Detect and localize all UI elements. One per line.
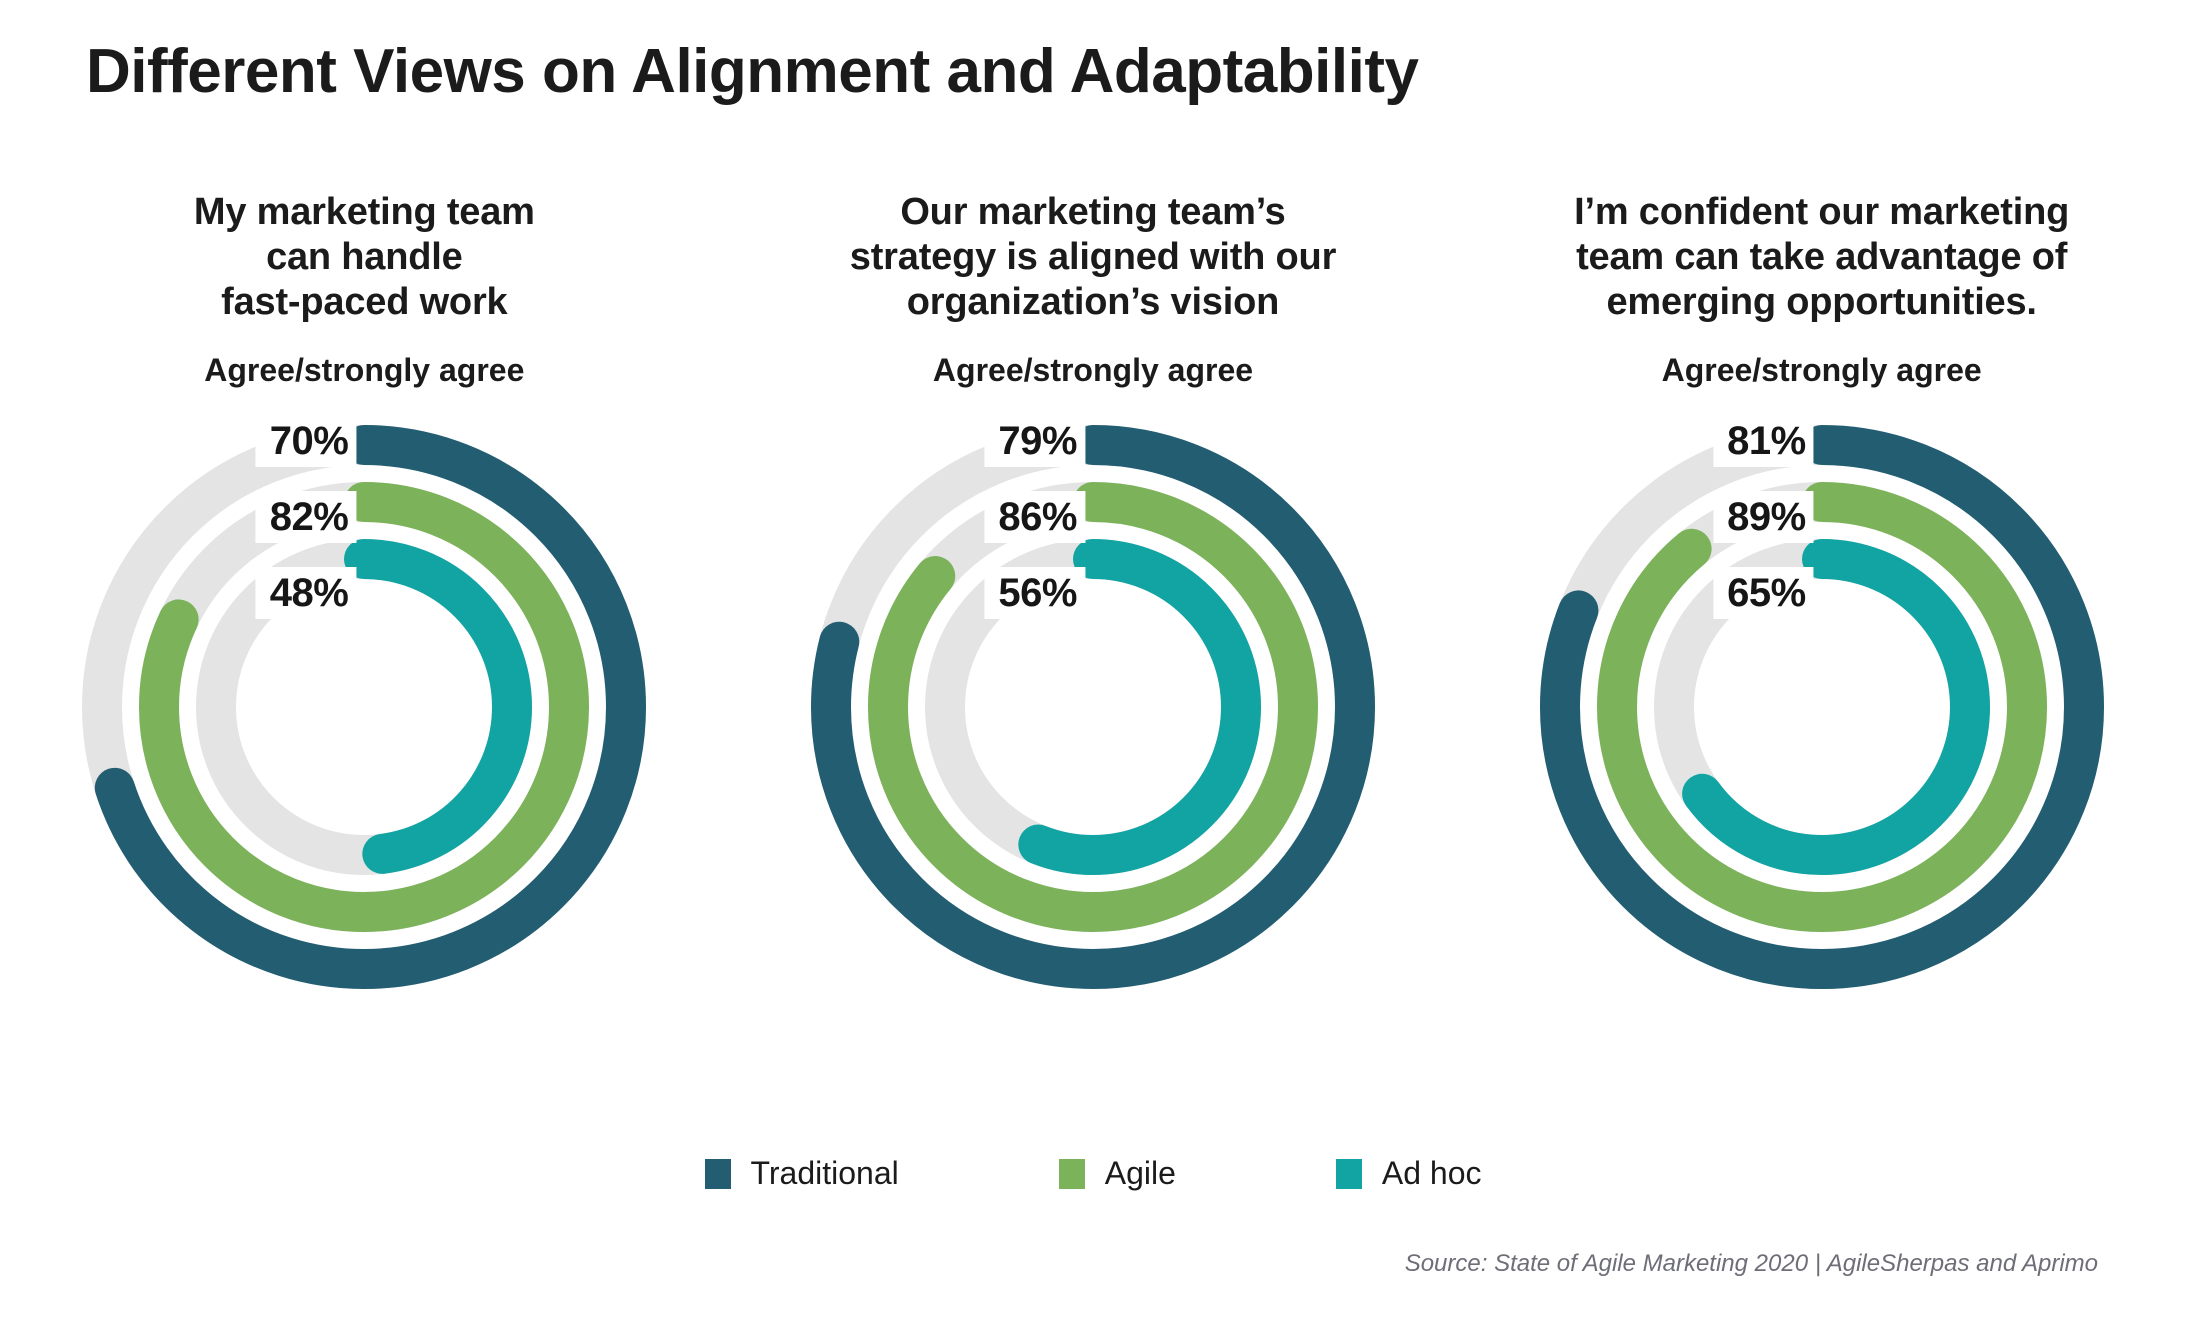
gauge-3: 81% 89% 65% xyxy=(1522,407,2122,1007)
chart-panel-2: Our marketing team’s strategy is aligned… xyxy=(763,190,1423,1007)
chart-subheading-1: Agree/strongly agree xyxy=(204,352,524,389)
legend-item-traditional: Traditional xyxy=(705,1155,899,1192)
legend-swatch-traditional-icon xyxy=(705,1159,731,1189)
chart-heading-1-line-2: can handle xyxy=(194,235,535,280)
gauge-3-label-traditional: 81% xyxy=(1713,415,1814,467)
gauge-1-label-traditional: 70% xyxy=(256,415,357,467)
chart-subheading-3: Agree/strongly agree xyxy=(1662,352,1982,389)
legend-label-adhoc: Ad hoc xyxy=(1382,1155,1482,1192)
gauge-1: 70% 82% 48% xyxy=(64,407,664,1007)
legend-swatch-adhoc-icon xyxy=(1336,1159,1362,1189)
infographic-page: Different Views on Alignment and Adaptab… xyxy=(0,0,2186,1322)
legend-label-agile: Agile xyxy=(1105,1155,1176,1192)
chart-heading-3-line-3: emerging opportunities. xyxy=(1574,280,2069,325)
chart-heading-3: I’m confident our marketing team can tak… xyxy=(1554,190,2089,326)
chart-subheading-2: Agree/strongly agree xyxy=(933,352,1253,389)
source-note: Source: State of Agile Marketing 2020 | … xyxy=(1405,1250,2098,1278)
gauge-2-label-agile: 86% xyxy=(984,491,1085,543)
chart-heading-3-line-2: team can take advantage of xyxy=(1574,235,2069,280)
gauge-1-label-agile: 82% xyxy=(256,491,357,543)
chart-heading-1: My marketing team can handle fast-paced … xyxy=(174,190,555,326)
gauge-3-label-adhoc: 65% xyxy=(1713,567,1814,619)
legend-swatch-agile-icon xyxy=(1059,1159,1085,1189)
gauge-1-svg xyxy=(64,407,664,1007)
chart-heading-1-line-1: My marketing team xyxy=(194,190,535,235)
gauge-2-label-traditional: 79% xyxy=(984,415,1085,467)
gauge-2-labels: 79% 86% 56% xyxy=(984,407,1093,619)
gauge-2-label-adhoc: 56% xyxy=(984,567,1085,619)
legend-label-traditional: Traditional xyxy=(751,1155,899,1192)
gauge-3-label-agile: 89% xyxy=(1713,491,1814,543)
gauge-2-svg xyxy=(793,407,1393,1007)
chart-heading-2-line-3: organization’s vision xyxy=(850,280,1336,325)
chart-heading-2-line-2: strategy is aligned with our xyxy=(850,235,1336,280)
gauge-1-labels: 70% 82% 48% xyxy=(256,407,365,619)
charts-row: My marketing team can handle fast-paced … xyxy=(0,190,2186,1007)
chart-legend: Traditional Agile Ad hoc xyxy=(0,1155,2186,1192)
chart-panel-3: I’m confident our marketing team can tak… xyxy=(1492,190,2152,1007)
chart-panel-1: My marketing team can handle fast-paced … xyxy=(34,190,694,1007)
legend-item-agile: Agile xyxy=(1059,1155,1176,1192)
legend-item-adhoc: Ad hoc xyxy=(1336,1155,1482,1192)
page-title: Different Views on Alignment and Adaptab… xyxy=(86,36,1418,107)
gauge-3-svg xyxy=(1522,407,2122,1007)
gauge-1-label-adhoc: 48% xyxy=(256,567,357,619)
chart-heading-1-line-3: fast-paced work xyxy=(194,280,535,325)
chart-heading-2: Our marketing team’s strategy is aligned… xyxy=(830,190,1356,326)
gauge-3-labels: 81% 89% 65% xyxy=(1713,407,1822,619)
gauge-2: 79% 86% 56% xyxy=(793,407,1393,1007)
chart-heading-3-line-1: I’m confident our marketing xyxy=(1574,190,2069,235)
chart-heading-2-line-1: Our marketing team’s xyxy=(850,190,1336,235)
